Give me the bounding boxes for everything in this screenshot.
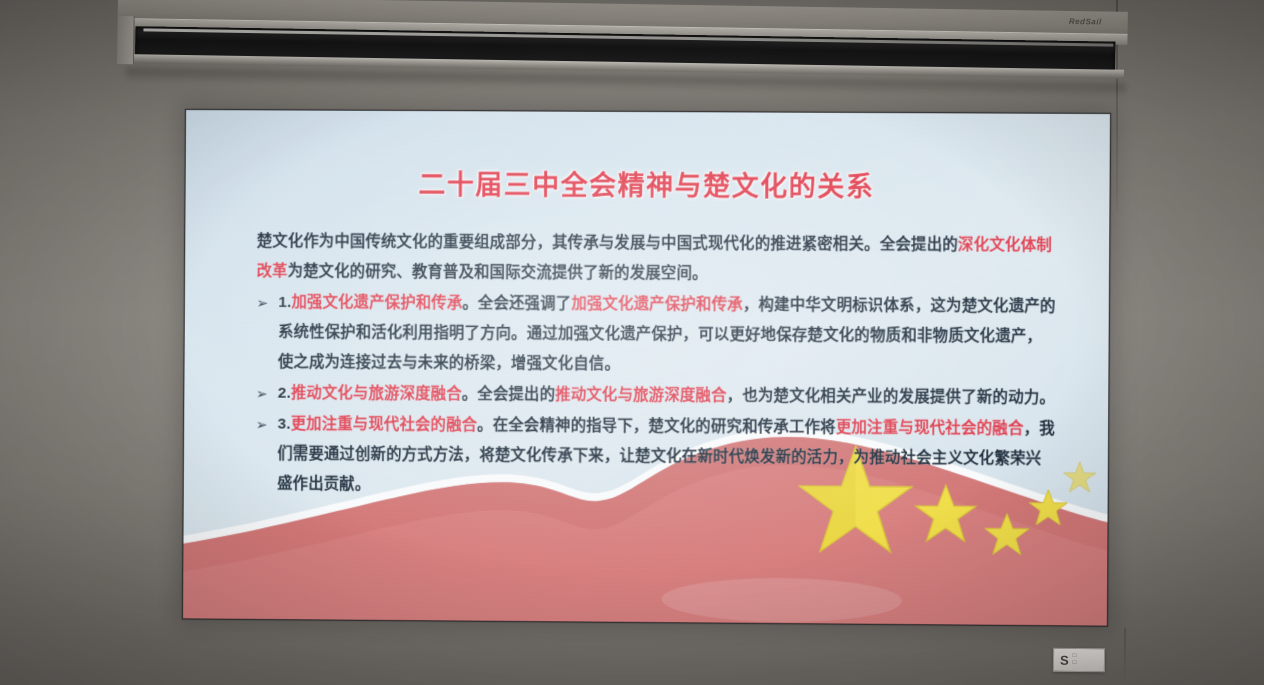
bullet-1-text-a: 。全会还强调了 <box>462 295 571 313</box>
projector-screen-housing[interactable]: RedSail <box>117 0 1128 90</box>
bullet-2-number: 2. <box>278 385 291 402</box>
bullet-1-highlight-mid: 加强文化遗产保护和传承 <box>571 296 743 314</box>
wall-sign-subline-2: □ <box>1073 660 1077 667</box>
slide-title: 二十届三中全会精神与楚文化的关系 <box>186 162 1110 205</box>
housing-end-cap <box>117 16 135 64</box>
bullet-2-text-b: ，也为楚文化相关产业的发展提供了新的动力。 <box>727 388 1056 407</box>
bullet-3-heading: 更加注重与现代社会的融合 <box>291 416 478 434</box>
slide-bullet-3: ➢ 3.更加注重与现代社会的融合。在全会精神的指导下，楚文化的研究和传承工作将更… <box>255 410 1056 505</box>
slide-canvas: 二十届三中全会精神与楚文化的关系 楚文化作为中国传统文化的重要组成部分，其传承与… <box>183 110 1110 626</box>
bullet-3-highlight-mid: 更加注重与现代社会的融合 <box>836 419 1024 437</box>
wall-corner-edge <box>1124 628 1126 685</box>
bullet-arrow-icon: ➢ <box>256 379 278 409</box>
bullet-2-heading: 推动文化与旅游深度融合 <box>291 385 462 403</box>
bullet-arrow-icon: ➢ <box>256 288 278 318</box>
intro-text-part2: 为楚文化的研究、教育普及和国际交流提供了新的发展空间。 <box>288 263 708 282</box>
slide-bullet-2: ➢ 2.推动文化与旅游深度融合。全会提出的推动文化与旅游深度融合，也为楚文化相关… <box>256 379 1056 414</box>
bullet-1-number: 1. <box>278 294 291 311</box>
slide-intro-paragraph: 楚文化作为中国传统文化的重要组成部分，其传承与发展与中国式现代化的推进紧密相关。… <box>257 227 1057 291</box>
bullet-1-heading: 加强文化遗产保护和传承 <box>291 294 462 312</box>
intro-text-part1: 楚文化作为中国传统文化的重要组成部分，其传承与发展与中国式现代化的推进紧密相关。… <box>257 233 958 254</box>
bullet-3-body: 3.更加注重与现代社会的融合。在全会精神的指导下，楚文化的研究和传承工作将更加注… <box>277 410 1056 505</box>
bullet-2-text-a: 。全会提出的 <box>462 386 555 404</box>
wall-sign-glyph: S <box>1060 653 1069 666</box>
wall-sign-sublines: □ □ <box>1073 653 1077 666</box>
classroom-photo-scene: RedSail <box>0 0 1264 685</box>
bullet-3-number: 3. <box>278 416 291 433</box>
slide-bullet-1: ➢ 1.加强文化遗产保护和传承。全会还强调了加强文化遗产保护和传承，构建中华文明… <box>256 288 1057 383</box>
slide-body: 楚文化作为中国传统文化的重要组成部分，其传承与发展与中国式现代化的推进紧密相关。… <box>255 227 1057 505</box>
star-small-4-icon <box>1063 462 1095 492</box>
bullet-1-body: 1.加强文化遗产保护和传承。全会还强调了加强文化遗产保护和传承，构建中华文明标识… <box>278 288 1057 383</box>
projected-slide[interactable]: 二十届三中全会精神与楚文化的关系 楚文化作为中国传统文化的重要组成部分，其传承与… <box>183 110 1110 626</box>
housing-brand-label: RedSail <box>1069 17 1102 27</box>
bullet-3-text-a: 。在全会精神的指导下，楚文化的研究和传承工作将 <box>477 417 836 436</box>
bullet-2-body: 2.推动文化与旅游深度融合。全会提出的推动文化与旅游深度融合，也为楚文化相关产业… <box>278 379 1056 414</box>
bullet-arrow-icon: ➢ <box>256 410 278 440</box>
bullet-2-highlight-mid: 推动文化与旅游深度融合 <box>555 386 727 404</box>
wall-sign-plate[interactable]: S □ □ <box>1053 648 1105 673</box>
